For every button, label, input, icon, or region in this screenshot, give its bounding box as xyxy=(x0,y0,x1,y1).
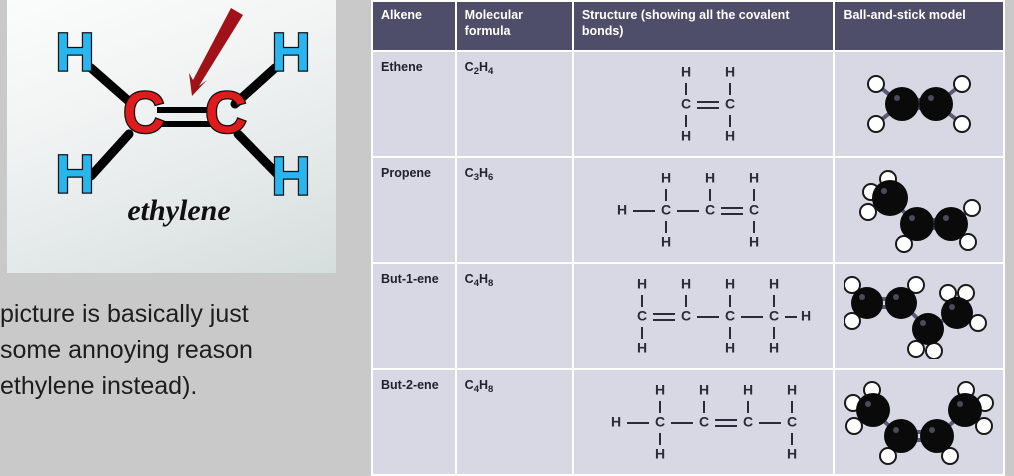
formula-text: C4H8 xyxy=(465,272,494,286)
cell-alkene-name: But-2-ene xyxy=(373,370,455,474)
structure-but-2-ene: HHHH H CCCC HH xyxy=(594,379,814,465)
h-atom-topright: H xyxy=(272,22,311,82)
svg-text:H: H xyxy=(699,382,709,398)
svg-text:H: H xyxy=(725,64,735,80)
svg-text:H: H xyxy=(769,340,779,356)
h-atom-topleft: H xyxy=(56,22,95,82)
formula-text: C3H6 xyxy=(465,166,494,180)
svg-text:C: C xyxy=(637,308,647,324)
svg-text:H: H xyxy=(661,234,671,250)
cell-molecular-formula: C4H8 xyxy=(457,370,572,474)
header-structure: Structure (showing all the covalent bond… xyxy=(574,2,834,50)
svg-text:H: H xyxy=(725,340,735,356)
header-molecular-formula: Molecular formula xyxy=(457,2,572,50)
cell-alkene-name: But-1-ene xyxy=(373,264,455,368)
model-propene xyxy=(844,166,994,254)
svg-text:H: H xyxy=(749,234,759,250)
svg-text:H: H xyxy=(705,170,715,186)
svg-text:H: H xyxy=(611,414,621,430)
body-text-line-1: picture is basically just xyxy=(0,300,249,329)
svg-text:C: C xyxy=(681,96,691,112)
structure-but-1-ene: HHHH CCCC H HHH xyxy=(594,273,814,359)
cell-structure: HH CC HH xyxy=(574,52,834,156)
svg-text:H: H xyxy=(725,276,735,292)
svg-text:H: H xyxy=(725,128,735,144)
formula-text: C4H8 xyxy=(465,378,494,392)
svg-text:C: C xyxy=(699,414,709,430)
cell-molecular-formula: C4H8 xyxy=(457,264,572,368)
svg-text:H: H xyxy=(787,446,797,462)
svg-text:H: H xyxy=(681,276,691,292)
molecule-label: ethylene xyxy=(127,194,230,227)
svg-text:H: H xyxy=(637,276,647,292)
svg-text:C: C xyxy=(749,202,759,218)
svg-text:C: C xyxy=(655,414,665,430)
svg-text:C: C xyxy=(743,414,753,430)
svg-text:C: C xyxy=(681,308,691,324)
cell-ball-and-stick xyxy=(835,370,1003,474)
model-but-1-ene xyxy=(844,273,994,359)
svg-text:H: H xyxy=(787,382,797,398)
structure-ethene: HH CC HH xyxy=(594,61,814,147)
ethylene-structure-svg: H H H H C C ethylene xyxy=(7,0,336,273)
cell-structure: HHHH H CCCC HH xyxy=(574,370,834,474)
svg-text:H: H xyxy=(681,128,691,144)
h-atom-bottomright: H xyxy=(272,146,311,206)
svg-text:H: H xyxy=(743,382,753,398)
svg-text:H: H xyxy=(769,276,779,292)
cell-alkene-name: Ethene xyxy=(373,52,455,156)
model-but-2-ene xyxy=(844,378,994,466)
svg-text:C: C xyxy=(705,202,715,218)
cell-ball-and-stick xyxy=(835,158,1003,262)
formula-text: C2H4 xyxy=(465,60,494,74)
table-row: Propene C3H6 HHH H CCC HH xyxy=(373,158,1003,262)
svg-text:C: C xyxy=(725,308,735,324)
alkene-table: Alkene Molecular formula Structure (show… xyxy=(371,0,1005,476)
cell-ball-and-stick xyxy=(835,264,1003,368)
svg-text:H: H xyxy=(749,170,759,186)
c-atom-left: C xyxy=(123,80,165,145)
ethylene-illustration-panel: H H H H C C ethylene xyxy=(7,0,336,273)
svg-text:H: H xyxy=(655,382,665,398)
table-row: Ethene C2H4 HH CC HH xyxy=(373,52,1003,156)
cell-ball-and-stick xyxy=(835,52,1003,156)
svg-text:C: C xyxy=(769,308,779,324)
cell-alkene-name: Propene xyxy=(373,158,455,262)
svg-text:C: C xyxy=(661,202,671,218)
double-bond-cc xyxy=(157,110,212,124)
svg-text:H: H xyxy=(661,170,671,186)
svg-text:H: H xyxy=(681,64,691,80)
hydrogen-atoms: H H H H xyxy=(56,22,311,206)
svg-text:H: H xyxy=(801,308,811,324)
body-text-line-3: ethylene instead). xyxy=(0,372,197,401)
table-row: But-1-ene C4H8 HHHH CCCC H xyxy=(373,264,1003,368)
model-ethene xyxy=(844,62,994,146)
c-atom-right: C xyxy=(205,80,247,145)
svg-text:H: H xyxy=(617,202,627,218)
cell-molecular-formula: C2H4 xyxy=(457,52,572,156)
header-alkene: Alkene xyxy=(373,2,455,50)
structure-propene: HHH H CCC HH xyxy=(594,167,814,253)
svg-text:H: H xyxy=(637,340,647,356)
h-atom-bottomleft: H xyxy=(56,144,95,204)
svg-text:C: C xyxy=(725,96,735,112)
table-row: But-2-ene C4H8 HHHH H CCCC xyxy=(373,370,1003,474)
svg-text:C: C xyxy=(787,414,797,430)
svg-text:H: H xyxy=(655,446,665,462)
header-ball-and-stick: Ball-and-stick model xyxy=(835,2,1003,50)
cell-structure: HHHH CCCC H HHH xyxy=(574,264,834,368)
table-header-row: Alkene Molecular formula Structure (show… xyxy=(373,2,1003,50)
body-text-line-2: some annoying reason xyxy=(0,336,253,365)
cell-structure: HHH H CCC HH xyxy=(574,158,834,262)
cell-molecular-formula: C3H6 xyxy=(457,158,572,262)
